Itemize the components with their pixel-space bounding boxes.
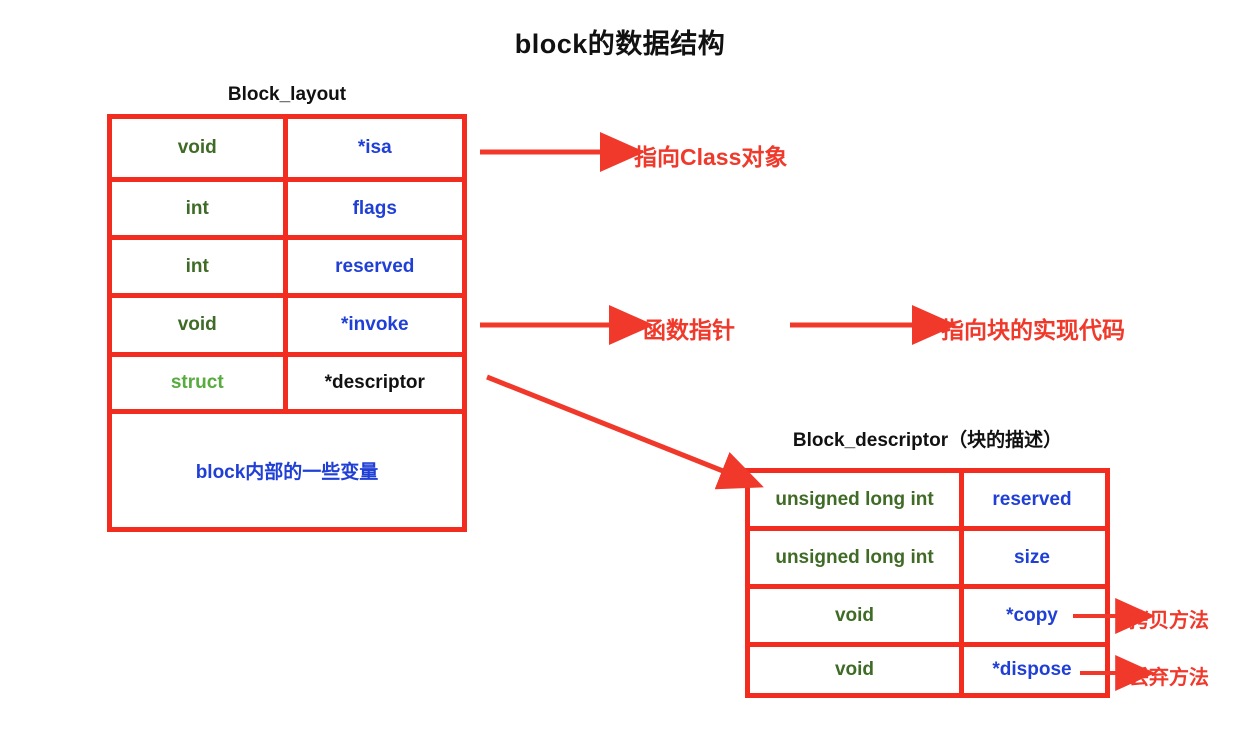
field-name: reserved bbox=[964, 473, 1100, 526]
table-row: void *invoke bbox=[112, 298, 462, 357]
table-row: void *isa bbox=[112, 119, 462, 182]
field-name: flags bbox=[288, 182, 462, 235]
field-name: *invoke bbox=[288, 298, 462, 352]
table-row-footer: block内部的一些变量 bbox=[112, 414, 462, 527]
field-name: size bbox=[964, 531, 1100, 584]
block-descriptor-table: unsigned long int reserved unsigned long… bbox=[745, 468, 1110, 698]
annotation-copy: 拷贝方法 bbox=[1129, 604, 1209, 633]
field-name: reserved bbox=[288, 240, 462, 293]
field-type: void bbox=[750, 647, 964, 693]
field-name: *copy bbox=[964, 589, 1100, 642]
page-title: block的数据结构 bbox=[0, 22, 1240, 61]
annotation-invoke: 函数指针 bbox=[643, 311, 735, 345]
block-layout-caption: Block_layout bbox=[107, 84, 467, 106]
field-type: void bbox=[112, 298, 288, 352]
block-descriptor-caption: Block_descriptor（块的描述） bbox=[745, 425, 1110, 452]
field-type: int bbox=[112, 182, 288, 235]
field-type: unsigned long int bbox=[750, 531, 964, 584]
table-row: void *dispose bbox=[750, 647, 1105, 693]
table-row: unsigned long int size bbox=[750, 531, 1105, 589]
field-name: *isa bbox=[288, 119, 462, 177]
field-name: *descriptor bbox=[288, 357, 462, 409]
block-layout-table: void *isa int flags int reserved void *i… bbox=[107, 114, 467, 532]
field-type: unsigned long int bbox=[750, 473, 964, 526]
field-type: int bbox=[112, 240, 288, 293]
arrow-descriptor bbox=[487, 377, 723, 471]
field-type: void bbox=[112, 119, 288, 177]
table-row: int flags bbox=[112, 182, 462, 240]
field-type: struct bbox=[112, 357, 288, 409]
block-internal-vars-label: block内部的一些变量 bbox=[112, 414, 462, 527]
field-name: *dispose bbox=[964, 647, 1100, 693]
table-row: unsigned long int reserved bbox=[750, 473, 1105, 531]
table-row: void *copy bbox=[750, 589, 1105, 647]
diagram-canvas: block的数据结构 Block_layout void *isa int fl… bbox=[0, 0, 1240, 748]
annotation-isa: 指向Class对象 bbox=[634, 138, 787, 172]
field-type: void bbox=[750, 589, 964, 642]
annotation-dispose: 丢弃方法 bbox=[1129, 661, 1209, 690]
table-row: struct *descriptor bbox=[112, 357, 462, 414]
annotation-invoke-target: 指向块的实现代码 bbox=[941, 311, 1125, 345]
table-row: int reserved bbox=[112, 240, 462, 298]
